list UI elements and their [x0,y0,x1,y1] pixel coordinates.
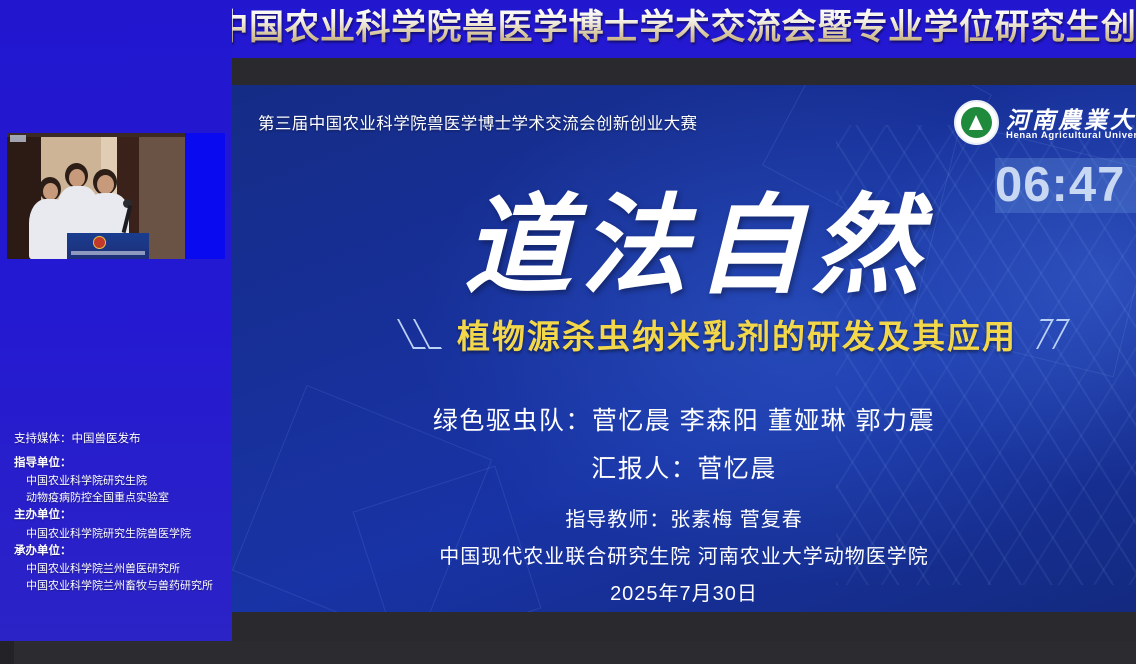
countdown-timer-value: 06:47 [995,156,1136,214]
slide-main-title: 道法自然 [464,175,924,320]
podium-banner [67,233,149,259]
credit-host-item: 中国农业科学院研究生院兽医学院 [0,529,232,540]
credits-block: 支持媒体：中国兽医发布 指导单位： 中国农业科学院研究生院 动物疫病防控全国重点… [0,434,232,598]
bottom-strip-left-cap [0,641,14,664]
credit-guidance-item: 动物疫病防控全国重点实验室 [0,493,232,504]
bottom-toolbar-strip [0,641,1136,664]
university-logo: 河南農業大學 Henan Agricultural University [954,99,1136,151]
university-seal-icon [954,100,999,145]
credit-guidance-label: 指导单位： [0,458,232,470]
date-line: 2025年7月30日 [232,577,1136,606]
credit-organizer-item: 中国农业科学院兰州兽医研究所 [0,564,232,575]
podium-emblem-icon [93,236,106,249]
chevron-left-icon [403,319,443,349]
event-title: 第三届中国农业科学院兽医学博士学术交流会暨专业学位研究生创新创业大赛 [107,6,1136,50]
credit-guidance-item: 中国农业科学院研究生院 [0,476,232,487]
credit-organizer-item: 中国农业科学院兰州畜牧与兽药研究所 [0,581,232,592]
presentation-slide[interactable]: 第三届中国农业科学院兽医学博士学术交流会创新创业大赛 河南農業大學 Henan … [232,85,1136,612]
countdown-timer: 06:47 [995,158,1136,213]
credit-host-label: 主办单位： [0,510,232,522]
podium-banner-text [71,251,145,255]
video-watermark [10,135,26,142]
video-frame [7,133,185,259]
credit-organizer-label: 承办单位： [0,546,232,558]
screen-capture: 中国兽医发布 第三届中国农业科学院兽医学博士学术交流会暨专业学位研究生创新创业大… [0,0,1136,664]
credit-media: 支持媒体：中国兽医发布 [0,434,232,446]
slide-subtitle-row: 植物源杀虫纳米乳剂的研发及其应用 [342,311,1132,357]
team-members-line: 绿色驱虫队：菅忆晨 李森阳 董娅琳 郭力震 [232,401,1136,437]
speaker-line: 汇报人：菅忆晨 [232,449,1136,485]
left-info-panel: 支持媒体：中国兽医发布 指导单位： 中国农业科学院研究生院 动物疫病防控全国重点… [0,0,232,641]
chevron-right-icon [1031,319,1071,349]
presenter-video-feed[interactable] [7,133,225,259]
advisor-line: 指导教师：张素梅 菅复春 [232,503,1136,532]
university-name-en: Henan Agricultural University [1006,130,1136,141]
slide-subtitle: 植物源杀虫纳米乳剂的研发及其应用 [457,310,1017,358]
institution-line: 中国现代农业联合研究生院 河南农业大学动物医学院 [232,540,1136,569]
slide-header-text: 第三届中国农业科学院兽医学博士学术交流会创新创业大赛 [258,110,697,134]
